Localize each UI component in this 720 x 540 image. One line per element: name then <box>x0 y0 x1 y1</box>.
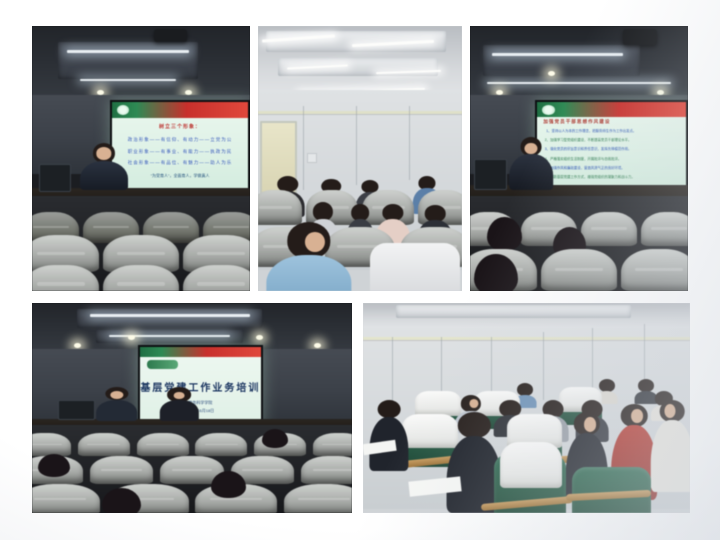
speaker <box>509 137 553 190</box>
projection-screen: 基层党建工作业务培训 教务科学学院 2018年6月18日 <box>138 345 264 429</box>
chair-foreground <box>370 243 460 291</box>
wall-seam <box>592 328 593 391</box>
photo-panel-top-right[interactable]: 加强党员干部思想作风建设 1、坚持以人为本的工作理念，把服务师生作为工作出发点。… <box>470 26 688 291</box>
slide-title: 基层党建工作业务培训 <box>140 379 262 394</box>
laptop <box>39 164 72 193</box>
ceiling-coffer <box>483 45 640 77</box>
ceiling-light-tube <box>487 82 670 84</box>
body <box>160 400 198 420</box>
ceiling-light-tube <box>67 50 189 53</box>
chair <box>581 212 636 246</box>
slide-line-1: 政治形象——有信仰、有动力——立党为公 <box>112 137 247 143</box>
downlight <box>128 335 135 340</box>
speaker-body <box>509 154 553 190</box>
body <box>651 420 690 492</box>
chair <box>32 265 99 292</box>
chair <box>541 249 616 291</box>
face <box>665 404 676 418</box>
speaker-body <box>80 161 128 191</box>
slide-logo <box>117 105 129 116</box>
chair <box>641 212 688 246</box>
presenter-left <box>96 387 138 421</box>
attendee-right-glasses <box>651 400 690 492</box>
panel-image-top-right: 加强党员干部思想作风建设 1、坚持以人为本的工作理念，把服务师生作为工作出发点。… <box>470 26 688 291</box>
attendee-left-taking-notes <box>370 400 409 471</box>
downlight <box>97 90 104 95</box>
chair-row <box>32 433 352 456</box>
laptop <box>474 159 507 190</box>
lecture-hall-scene: 加强党员干部思想作风建设 1、坚持以人为本的工作理念，把服务师生作为工作出发点。… <box>470 26 688 291</box>
attendee-head-silhouette <box>38 454 70 477</box>
slide-line-2: 职业形象——有事业、有能力——执政为民 <box>112 149 247 155</box>
auditorium-scene <box>363 303 690 513</box>
photo-panel-bottom-right[interactable] <box>363 303 690 513</box>
chair-row <box>32 484 352 513</box>
chair <box>621 249 688 291</box>
downlight <box>496 90 503 95</box>
chair <box>195 433 247 456</box>
ceiling-light-tube <box>492 53 623 56</box>
ceiling-light-tube <box>90 314 250 317</box>
panel-image-top-left: 树立三个形象： 政治形象——有信仰、有动力——立党为公 职业形象——有事业、有能… <box>32 26 250 291</box>
photo-panel-bottom-left[interactable]: 基层党建工作业务培训 教务科学学院 2018年6月18日 <box>32 303 352 513</box>
chair <box>78 433 130 456</box>
chair <box>313 433 352 456</box>
body <box>96 400 138 421</box>
slide-line-2: 2、加强学习型党组织建设，不断提高党员干部理论水平。 <box>545 137 686 142</box>
slide-title: 加强党员干部思想作风建设 <box>543 119 685 125</box>
attendee-head-silhouette <box>211 471 246 498</box>
slide-title: 树立三个形象： <box>112 123 247 130</box>
ceiling-coffer <box>77 309 263 328</box>
panel-image-top-middle <box>258 26 462 291</box>
body <box>266 255 351 291</box>
slide-line-3: 社会形象——有品位、有魅力——助人为乐 <box>112 160 247 166</box>
speaker <box>80 143 128 191</box>
slide-subtitle-2: 2018年6月18日 <box>140 408 262 414</box>
face <box>305 232 325 253</box>
wall-seam <box>543 332 544 399</box>
wall-switch[interactable] <box>307 153 317 163</box>
wall-trim <box>258 111 462 114</box>
head <box>378 400 401 419</box>
downlight <box>657 90 664 95</box>
chair <box>301 456 352 483</box>
slide-banner <box>537 102 685 117</box>
photo-panel-top-left[interactable]: 树立三个形象： 政治形象——有信仰、有动力——立党为公 职业形象——有事业、有能… <box>32 26 250 291</box>
panel-image-bottom-left: 基层党建工作业务培训 教务科学学院 2018年6月18日 <box>32 303 352 513</box>
wall-seam <box>644 324 645 383</box>
speaker-face <box>524 143 537 155</box>
downlight <box>74 343 81 348</box>
wall-seam <box>356 106 357 186</box>
downlight <box>256 335 263 340</box>
chair-row <box>32 265 250 292</box>
chair <box>103 265 178 292</box>
downlight <box>185 90 192 95</box>
seat-headrest-cover <box>500 442 562 488</box>
chair <box>183 265 250 292</box>
ceiling-coffer <box>396 305 631 318</box>
panel-image-bottom-right <box>363 303 690 513</box>
collage-canvas: 树立三个形象： 政治形象——有信仰、有动力——立党为公 职业形象——有事业、有能… <box>0 0 720 540</box>
slide-banner <box>112 102 247 118</box>
attendee-head-silhouette <box>262 429 288 448</box>
slide-logo <box>542 105 555 115</box>
slide-line-6: 6、创新基层党建工作方式，增强党组织的凝聚力和战斗力。 <box>545 174 686 179</box>
slide-line-1: 1、坚持以人为本的工作理念，把服务师生作为工作出发点。 <box>546 128 685 133</box>
wall-seam <box>409 106 410 180</box>
presenter-right <box>160 387 198 421</box>
lecture-hall-scene: 基层党建工作业务培训 教务科学学院 2018年6月18日 <box>32 303 352 513</box>
ceiling-coffer <box>96 330 243 343</box>
slide-highlight: "为党育人"，全面育人，学做真人 <box>112 173 247 179</box>
ceiling-light-tube <box>80 79 176 81</box>
attendee-foreground <box>270 222 348 291</box>
downlight <box>314 343 321 348</box>
slide-banner <box>140 347 262 357</box>
chair <box>32 433 71 456</box>
projector <box>154 29 187 42</box>
wall-trim <box>363 337 690 340</box>
laptop <box>58 400 95 421</box>
photo-panel-top-middle[interactable] <box>258 26 462 291</box>
slide-line-3: 3、强化党员的宗旨意识和责任意识，发挥先锋模范作用。 <box>545 146 686 151</box>
face <box>584 417 596 431</box>
chair <box>284 484 352 513</box>
slide-logo <box>147 360 179 370</box>
chair <box>32 484 100 513</box>
attendee-foreground-woman <box>448 412 500 513</box>
chair <box>90 456 154 483</box>
slide-line-4: 4、严格落实组织生活制度，开展批评与自我批评。 <box>545 156 686 161</box>
conference-room-scene <box>258 26 462 291</box>
lecture-hall-scene: 树立三个形象： 政治形象——有信仰、有动力——立党为公 职业形象——有事业、有能… <box>32 26 250 291</box>
chair-row <box>32 456 352 483</box>
slide-subtitle-1: 教务科学学院 <box>140 400 262 406</box>
ceiling-coffer <box>58 42 198 79</box>
slide-line-5: 5、加强作风和廉政建设，营造风清气正的良好环境。 <box>545 165 686 170</box>
projector <box>623 29 658 45</box>
chair <box>137 433 189 456</box>
head <box>458 412 490 438</box>
